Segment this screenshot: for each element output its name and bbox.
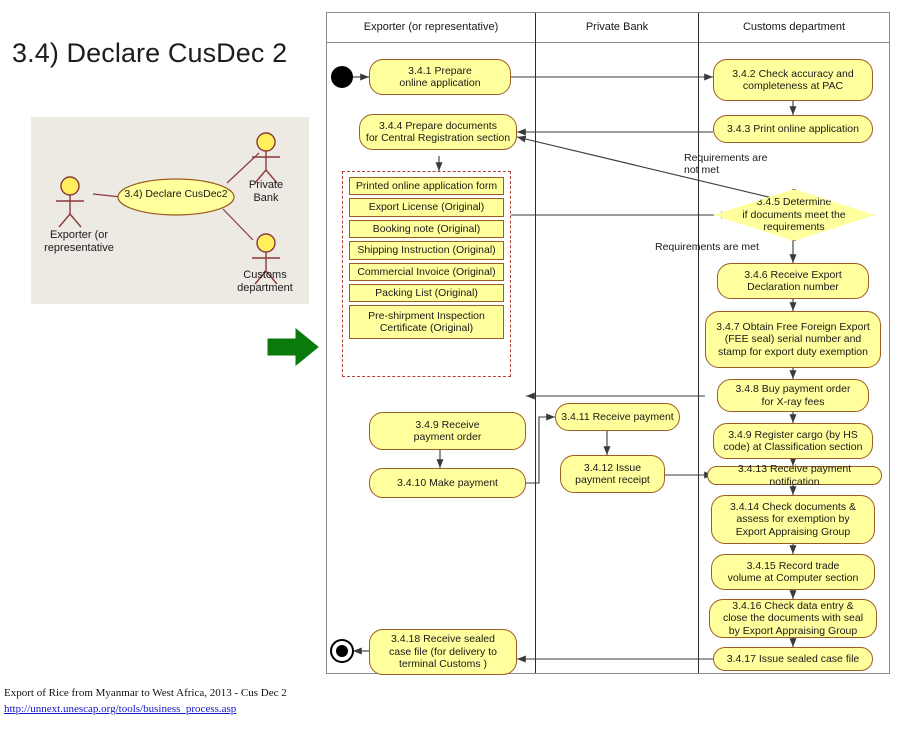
decision-3-4-5[interactable]: 3.4.5 Determineif documents meet therequ… [713, 189, 875, 241]
use-case-actor-exporter: Exporter (or representative [31, 229, 127, 255]
activity-diagram-frame: Exporter (or representative) Private Ban… [326, 12, 890, 674]
node-3-4-13[interactable]: 3.4.13 Receive payment notification [707, 466, 882, 485]
lane-divider-2 [698, 13, 699, 673]
document-item-2[interactable]: Export License (Original) [349, 198, 504, 216]
document-item-7[interactable]: Pre-shirpment InspectionCertificate (Ori… [349, 305, 504, 339]
use-case-actor-private-bank: Private Bank [229, 179, 303, 205]
node-3-4-1[interactable]: 3.4.1 Prepareonline application [369, 59, 511, 95]
actor-bank-line1: Private [229, 179, 303, 192]
start-node [331, 66, 353, 88]
document-item-4[interactable]: Shipping Instruction (Original) [349, 241, 504, 259]
end-node [330, 639, 354, 663]
lane-header-private-bank: Private Bank [536, 21, 698, 33]
green-arrow-icon [266, 326, 320, 368]
document-item-1[interactable]: Printed online application form [349, 177, 504, 195]
actor-exporter-line2: representative [31, 242, 127, 255]
node-3-4-18[interactable]: 3.4.18 Receive sealedcase file (for deli… [369, 629, 517, 675]
node-3-4-11[interactable]: 3.4.11 Receive payment [555, 403, 680, 431]
actor-customs-line1: Customs [221, 269, 309, 282]
use-case-actor-customs: Customs department [221, 269, 309, 295]
actor-customs-line2: department [221, 282, 309, 295]
node-3-4-15[interactable]: 3.4.15 Record tradevolume at Computer se… [711, 554, 875, 590]
document-item-6[interactable]: Packing List (Original) [349, 284, 504, 302]
footer-source-line: Export of Rice from Myanmar to West Afri… [4, 686, 324, 700]
edge-label-requirements-not-met: Requirements arenot met [684, 152, 767, 176]
node-3-4-7[interactable]: 3.4.7 Obtain Free Foreign Export(FEE sea… [705, 311, 881, 368]
node-3-4-14[interactable]: 3.4.14 Check documents &assess for exemp… [711, 495, 875, 544]
document-list-box: Printed online application form Export L… [342, 171, 511, 377]
slide-canvas: 3.4) Declare CusDec 2 [0, 0, 903, 743]
document-item-3[interactable]: Booking note (Original) [349, 220, 504, 238]
node-3-4-4[interactable]: 3.4.4 Prepare documentsfor Central Regis… [359, 114, 517, 150]
lane-header-rule [327, 42, 889, 43]
edge-label-requirements-met: Requirements are met [655, 241, 759, 253]
node-3-4-2[interactable]: 3.4.2 Check accuracy andcompleteness at … [713, 59, 873, 101]
lane-header-exporter: Exporter (or representative) [327, 21, 535, 33]
lane-divider-1 [535, 13, 536, 673]
node-3-4-10[interactable]: 3.4.10 Make payment [369, 468, 526, 498]
actor-bank-line2: Bank [229, 192, 303, 205]
node-3-4-9-customs[interactable]: 3.4.9 Register cargo (by HScode) at Clas… [713, 423, 873, 459]
node-3-4-16[interactable]: 3.4.16 Check data entry &close the docum… [709, 599, 877, 638]
node-3-4-17[interactable]: 3.4.17 Issue sealed case file [713, 647, 873, 671]
use-case-diagram-panel: 3.4) Declare CusDec2 Exporter (or repres… [31, 117, 309, 304]
node-3-4-3[interactable]: 3.4.3 Print online application [713, 115, 873, 143]
use-case-bubble-label: 3.4) Declare CusDec2 [118, 188, 234, 200]
footer-source-link[interactable]: http://unnext.unescap.org/tools/business… [4, 702, 324, 716]
node-3-4-6[interactable]: 3.4.6 Receive ExportDeclaration number [717, 263, 869, 299]
node-3-4-8[interactable]: 3.4.8 Buy payment orderfor X-ray fees [717, 379, 869, 412]
page-title: 3.4) Declare CusDec 2 [12, 38, 322, 69]
footer: Export of Rice from Myanmar to West Afri… [4, 686, 324, 716]
lane-header-customs: Customs department [699, 21, 889, 33]
node-3-4-9-exporter[interactable]: 3.4.9 Receivepayment order [369, 412, 526, 450]
node-3-4-12[interactable]: 3.4.12 Issuepayment receipt [560, 455, 665, 493]
document-item-5[interactable]: Commercial Invoice (Original) [349, 263, 504, 281]
actor-exporter-line1: Exporter (or [31, 229, 127, 242]
